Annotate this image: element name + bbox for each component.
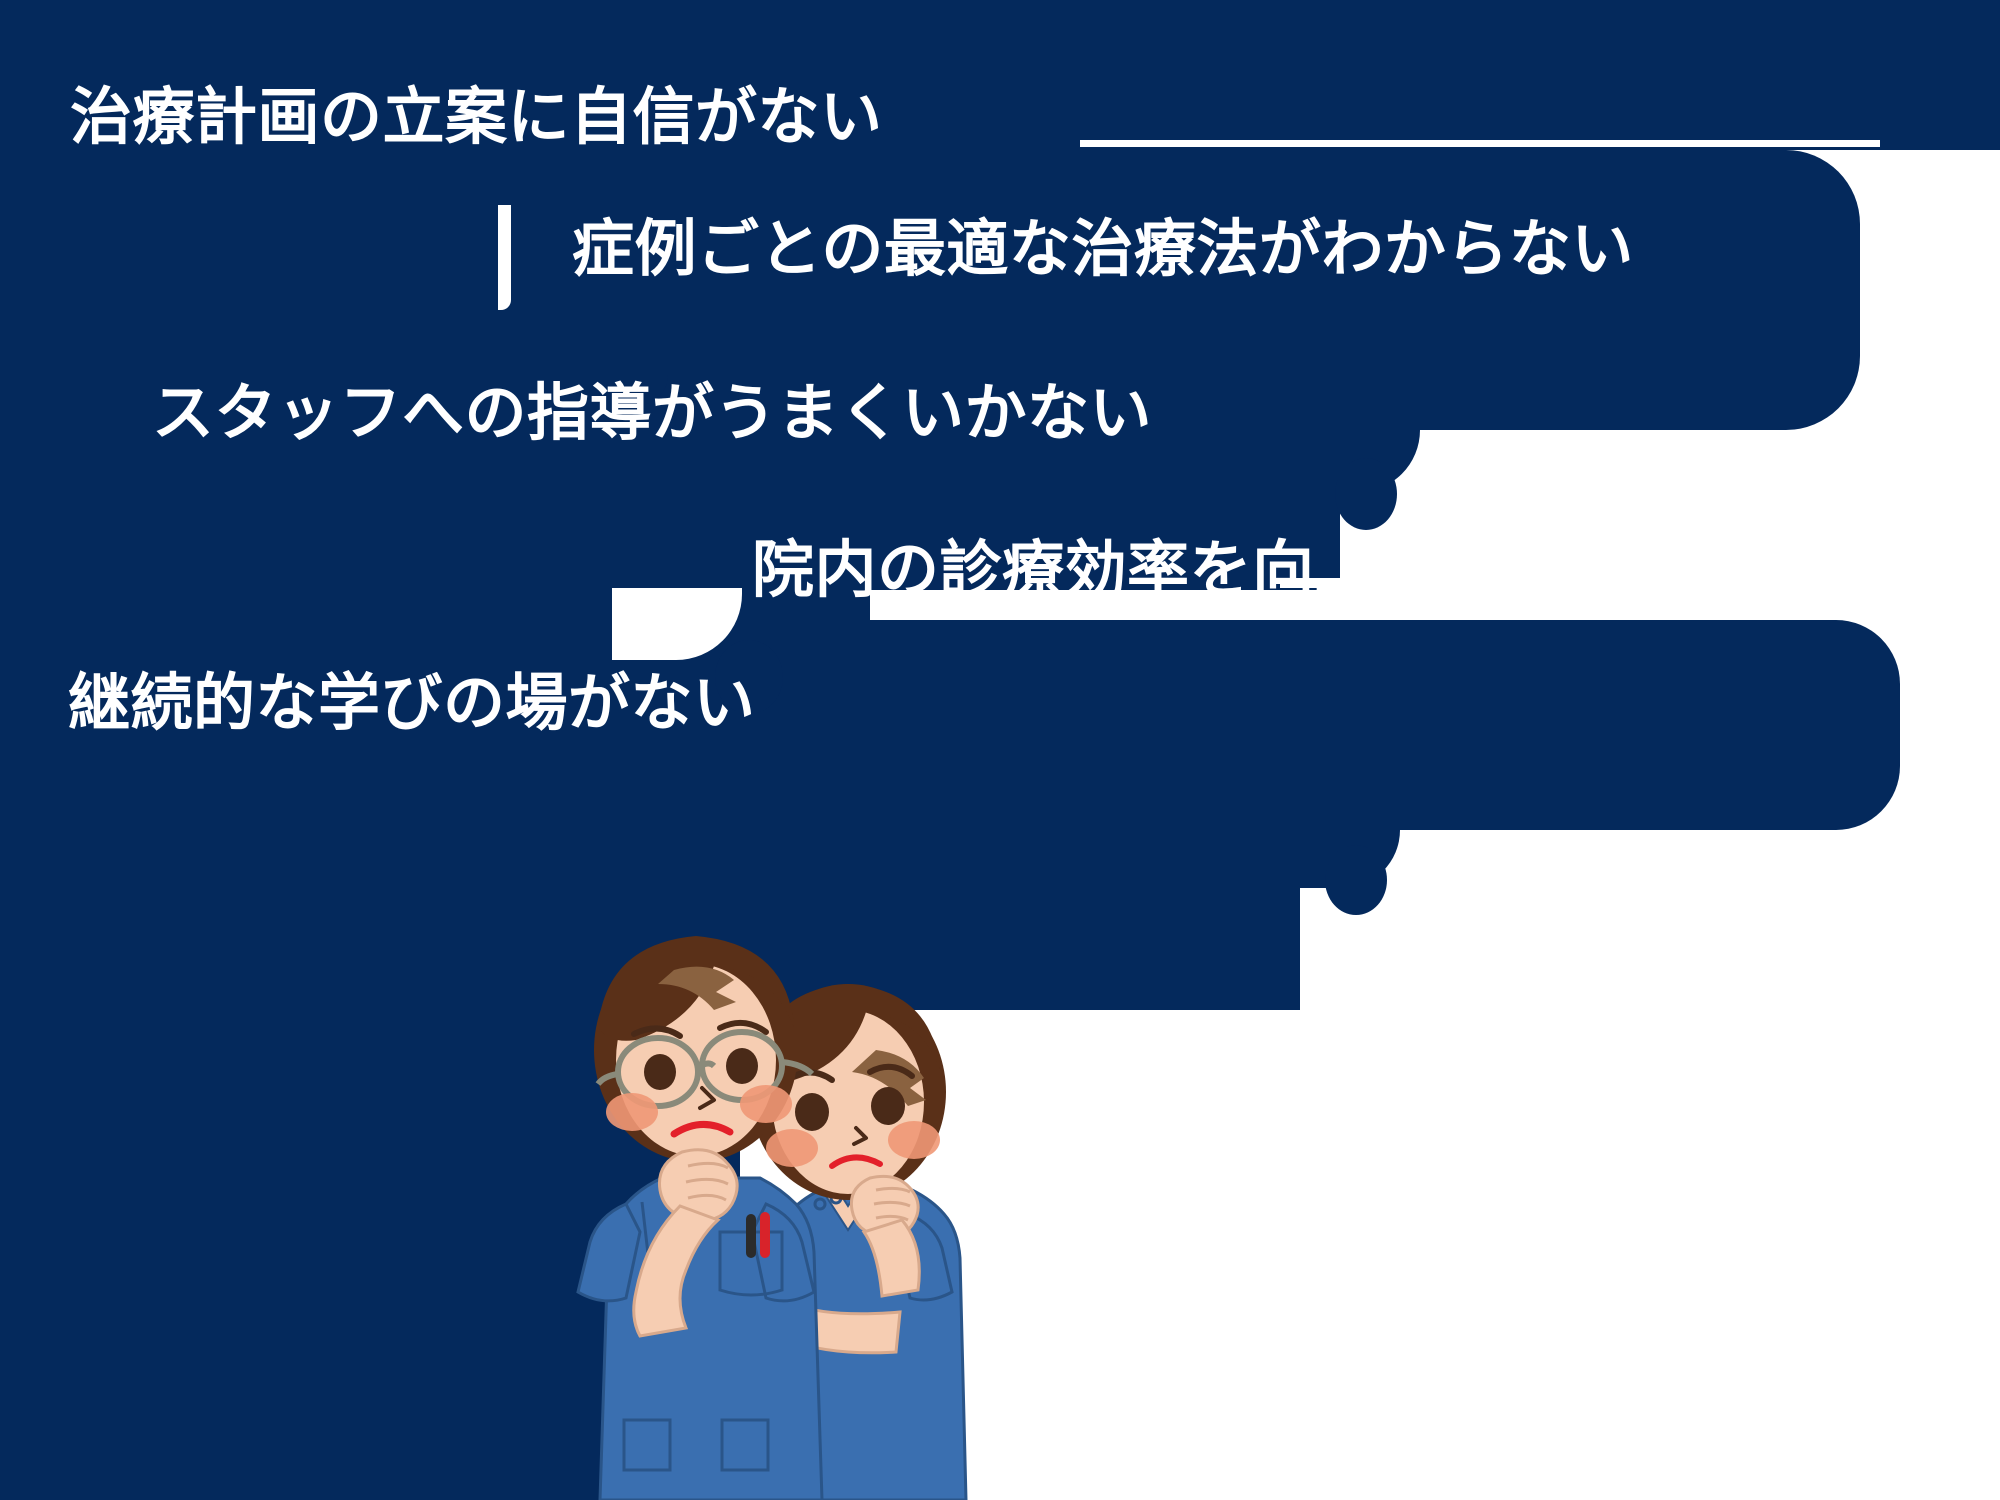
slide-canvas: 治療計画の立案に自信がない 症例ごとの最適な治療法がわからない スタッフへの指導… (0, 0, 2000, 1500)
concern-text-3: スタッフへの指導がうまくいかない (152, 362, 1152, 452)
concern-text-4: 院内の診療効率を向上させたい (752, 519, 1627, 609)
male-staff-figure (578, 936, 822, 1500)
concern-text-2: 症例ごとの最適な治療法がわからない (572, 198, 1634, 288)
divider-line-1 (1080, 140, 1880, 147)
quote-bar-icon (498, 205, 511, 310)
bubble-tail-dot-4 (1325, 845, 1387, 915)
medical-staff-illustration (570, 720, 1090, 1500)
concern-text-1: 治療計画の立案に自信がない (70, 66, 883, 156)
